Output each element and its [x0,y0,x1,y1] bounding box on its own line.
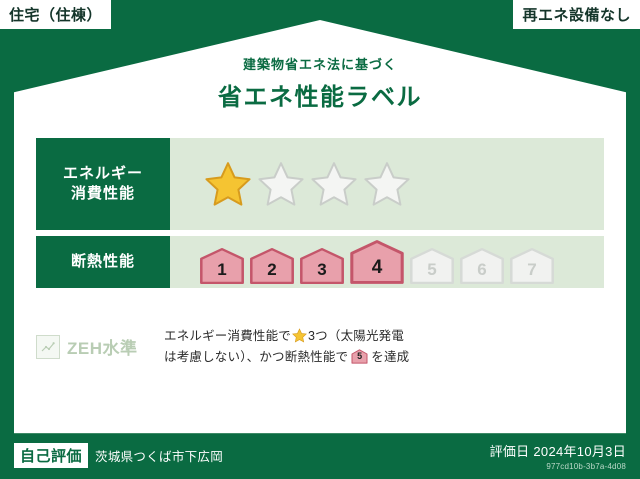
page-title: 省エネ性能ラベル [0,77,640,112]
row-energy-value [170,138,604,230]
title-block: 建築物省エネ法に基づく 省エネ性能ラベル [0,54,640,112]
chart-line-icon [36,335,60,359]
insulation-level-number: 2 [249,260,295,280]
row-energy-label-line2: 消費性能 [71,184,135,204]
performance-rows: エネルギー 消費性能 断熱性能 1234567 [36,138,604,294]
row-energy-consumption: エネルギー 消費性能 [36,138,604,230]
insulation-level-7: 7 [509,247,555,285]
zeh-description-line1: エネルギー消費性能で3つ（太陽光発電 [164,326,409,347]
star-empty-icon [309,160,359,208]
energy-performance-label: 住宅（住棟） 再エネ設備なし 建築物省エネ法に基づく 省エネ性能ラベル エネルギ… [0,0,640,479]
zeh-line2-post: を達成 [371,350,409,364]
zeh-section: ZEH水準 エネルギー消費性能で3つ（太陽光発電 は考慮しない）、かつ断熱性能で… [36,326,604,367]
insulation-level-1: 1 [199,247,245,285]
insulation-level-5: 5 [409,247,455,285]
title-subtitle: 建築物省エネ法に基づく [0,54,640,73]
insulation-level-4: 4 [349,239,405,285]
insulation-level-number: 7 [509,260,555,280]
evaluation-id: 977cd10b-3b7a-4d08 [490,462,626,471]
insulation-level-number: 4 [349,257,405,279]
insulation-level-number: 5 [409,260,455,280]
insulation-level-2: 2 [249,247,295,285]
star-empty-icon [256,160,306,208]
row-energy-label: エネルギー 消費性能 [36,138,170,230]
status-badge: 自己評価 [14,443,88,468]
insulation-level-number: 1 [199,260,245,280]
address-text: 茨城県つくば市下広岡 [95,446,223,465]
insulation-level-scale: 1234567 [170,239,555,285]
zeh-line2-badge-number: 5 [351,349,368,364]
star-rating [170,160,412,208]
footer-right: 評価日 2024年10月3日 977cd10b-3b7a-4d08 [490,441,626,471]
insulation-level-3: 3 [299,247,345,285]
house-icon-inline: 5 [351,349,368,364]
row-insulation: 断熱性能 1234567 [36,236,604,288]
row-energy-label-line1: エネルギー [63,164,143,184]
insulation-level-number: 3 [299,260,345,280]
row-insulation-label: 断熱性能 [36,236,170,288]
zeh-line2-pre: は考慮しない）、かつ断熱性能で [164,350,348,364]
star-filled-icon [203,160,253,208]
zeh-description: エネルギー消費性能で3つ（太陽光発電 は考慮しない）、かつ断熱性能で5を達成 [164,326,409,367]
zeh-description-line2: は考慮しない）、かつ断熱性能で5を達成 [164,347,409,368]
zeh-label: ZEH水準 [67,334,138,359]
footer: 自己評価 茨城県つくば市下広岡 評価日 2024年10月3日 977cd10b-… [0,433,640,479]
footer-left: 自己評価 茨城県つくば市下広岡 [14,443,223,468]
evaluation-date: 評価日 2024年10月3日 [490,441,626,460]
badge-building-type: 住宅（住棟） [0,0,111,29]
badge-renewable-energy: 再エネ設備なし [513,0,640,29]
star-icon-inline [292,328,307,343]
star-empty-icon [362,160,412,208]
zeh-line1-pre: エネルギー消費性能で [164,329,291,343]
insulation-level-6: 6 [459,247,505,285]
zeh-line1-post: 3つ（太陽光発電 [308,329,404,343]
badge-renewable-energy-text: 再エネ設備なし [522,4,631,25]
row-insulation-value: 1234567 [170,236,604,288]
row-insulation-label-line1: 断熱性能 [71,252,135,272]
badge-building-type-text: 住宅（住棟） [9,4,102,25]
zeh-logo: ZEH水準 [36,334,164,359]
insulation-level-number: 6 [459,260,505,280]
